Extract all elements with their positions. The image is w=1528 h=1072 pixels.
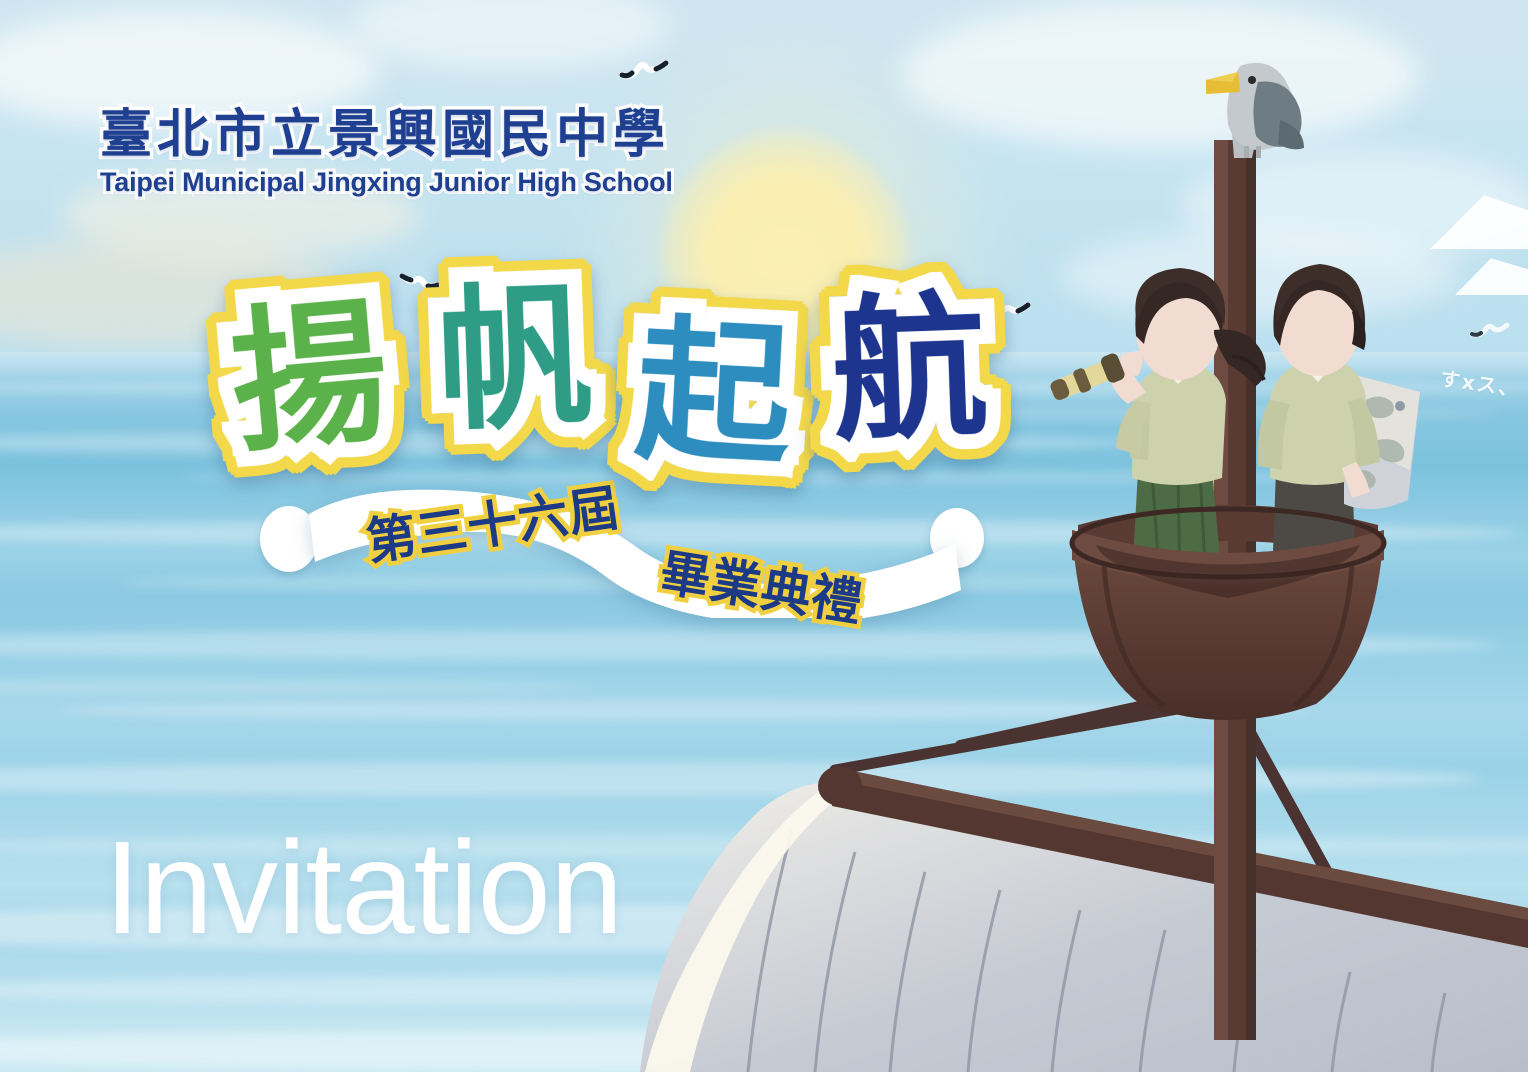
title-char-2: 帆 <box>434 279 594 439</box>
invitation-poster: すxス、 臺北市立景興國民中學 Taipei Municipal Jingxin… <box>0 0 1528 1072</box>
title-char-3: 起 <box>632 312 795 475</box>
school-identity: 臺北市立景興國民中學 Taipei Municipal Jingxing Jun… <box>100 108 673 198</box>
invitation-label: Invitation <box>104 822 622 954</box>
ribbon-banner: 第三十六屆 畢業典禮 <box>250 478 1010 628</box>
title-char-4: 航 <box>829 289 989 449</box>
school-name-en: Taipei Municipal Jingxing Junior High Sc… <box>100 167 673 198</box>
school-name-zh: 臺北市立景興國民中學 <box>100 108 673 163</box>
furled-sail <box>640 766 1528 1072</box>
title-char-1: 揚 <box>226 294 394 462</box>
